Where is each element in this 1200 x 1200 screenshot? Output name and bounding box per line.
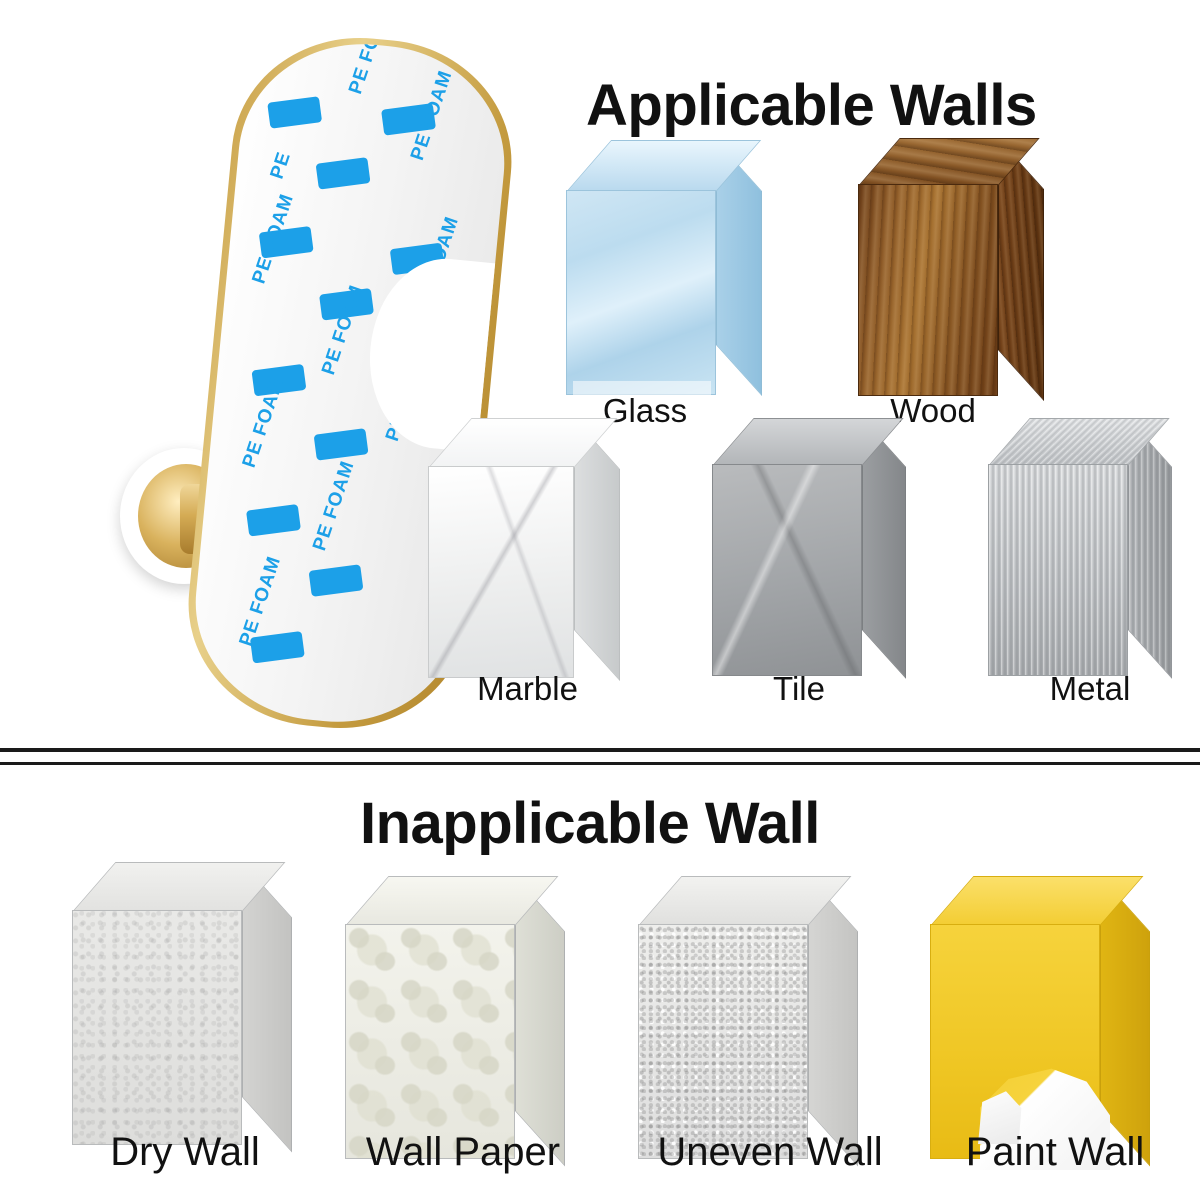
applicable-walls-heading: Applicable Walls <box>586 72 1037 139</box>
material-block-dry-wall <box>72 862 302 1137</box>
section-divider-secondary <box>0 762 1200 765</box>
caption-tile: Tile <box>724 670 874 708</box>
wood-front-face <box>858 184 998 396</box>
pe-foam-tape-strip <box>309 564 364 597</box>
material-block-wall-paper <box>345 876 575 1151</box>
material-block-tile <box>712 418 922 673</box>
pe-foam-label: PE FOAM <box>239 375 290 471</box>
pe-foam-label: PE <box>267 149 297 182</box>
metal-front-face <box>988 464 1128 676</box>
material-block-wood <box>858 138 1068 393</box>
pe-foam-label: PE FOAM <box>309 458 360 554</box>
drywall-side-face <box>242 862 292 1153</box>
glass-front-face <box>566 190 716 395</box>
wallpaper-front-face <box>345 924 515 1159</box>
inapplicable-wall-heading: Inapplicable Wall <box>360 790 820 857</box>
caption-paint-wall: Paint Wall <box>930 1130 1180 1175</box>
drywall-front-face <box>72 910 242 1145</box>
tile-front-face <box>712 464 862 676</box>
marble-front-face <box>428 466 574 678</box>
section-divider <box>0 748 1200 752</box>
material-block-glass <box>566 140 776 395</box>
caption-dry-wall: Dry Wall <box>60 1130 310 1175</box>
pe-foam-tape-strip <box>246 504 301 537</box>
caption-metal: Metal <box>1000 670 1180 708</box>
material-block-uneven-wall <box>638 876 868 1151</box>
material-block-marble <box>428 418 638 673</box>
pe-foam-tape-strip <box>314 428 369 461</box>
uneven-side-face <box>808 876 858 1167</box>
pe-foam-tape-strip <box>316 157 371 190</box>
poster-canvas: PE FOAM PE FOAM PE PE FOAM FOAM PE FOAM … <box>0 0 1200 1200</box>
uneven-front-face <box>638 924 808 1159</box>
material-block-metal <box>988 418 1198 673</box>
caption-marble: Marble <box>400 670 655 708</box>
caption-uneven-wall: Uneven Wall <box>620 1130 920 1175</box>
caption-wall-paper: Wall Paper <box>318 1130 608 1175</box>
pe-foam-tape-strip <box>267 96 322 129</box>
wallpaper-side-face <box>515 876 565 1167</box>
